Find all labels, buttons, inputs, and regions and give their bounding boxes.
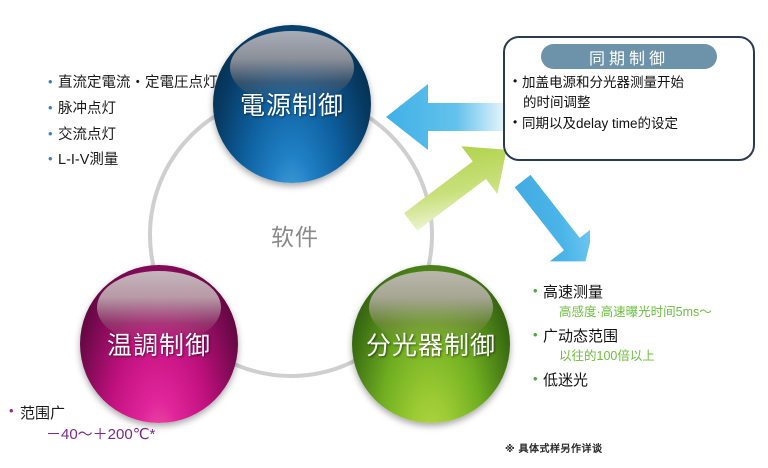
arrow-down-left-icon	[480, 172, 590, 290]
power-feature-list: 直流定電流・定電圧点灯 脉冲点灯 交流点灯 L-I-V測量	[8, 71, 248, 174]
sphere-spectro-label: 分光器制御	[366, 326, 496, 362]
list-item-subtext: 高感度·高速曝光时间5ms～	[533, 303, 763, 322]
sync-feature-list: 加盖电源和分光器测量开始 的时间调整 同期以及delay time的设定	[513, 73, 745, 134]
list-item-line1: 加盖电源和分光器测量开始	[522, 75, 684, 90]
list-item: 同期以及delay time的设定	[513, 114, 745, 134]
sphere-temperature-control[interactable]: 温調制御	[80, 265, 238, 423]
list-item-line1: 同期以及delay time的设定	[522, 116, 678, 131]
temperature-range-list: 范围广 －40〜＋200℃*	[8, 404, 208, 445]
list-item: 交流点灯	[48, 123, 248, 149]
list-item: 加盖电源和分光器测量开始 的时间调整	[513, 73, 745, 114]
diagram-canvas: 软件 電源制御 温調制御 分光器制御	[0, 0, 768, 468]
list-item-heading: 高速测量	[533, 283, 763, 303]
footnote: ※ 具体式样另作详谈	[505, 440, 603, 455]
sphere-power-label: 電源制御	[240, 86, 344, 122]
list-item-heading: 低迷光	[533, 371, 763, 391]
list-item: 直流定電流・定電圧点灯	[48, 71, 248, 97]
list-item: 低迷光	[533, 371, 763, 391]
list-item-heading: 广动态范围	[533, 327, 763, 347]
sphere-temp-label: 温調制御	[107, 326, 211, 362]
list-item: 脉冲点灯	[48, 97, 248, 123]
spectrometer-feature-list: 高速测量 高感度·高速曝光时间5ms～ 广动态范围 以往的100倍以上 低迷光	[533, 283, 763, 396]
list-item: 广动态范围 以往的100倍以上	[533, 327, 763, 366]
list-item: 高速测量 高感度·高速曝光时间5ms～	[533, 283, 763, 322]
list-item-subtext: 以往的100倍以上	[533, 347, 763, 366]
sync-control-title: 同期制御	[541, 44, 717, 69]
list-item-line2: 的时间调整	[522, 93, 745, 113]
list-item-subtext: －40〜＋200℃*	[8, 424, 208, 445]
list-item: L-I-V測量	[48, 148, 248, 174]
sync-control-box: 同期制御 加盖电源和分光器测量开始 的时间调整 同期以及delay time的设…	[503, 36, 755, 161]
center-label: 软件	[240, 218, 350, 252]
list-item-heading: 范围广	[8, 404, 208, 424]
